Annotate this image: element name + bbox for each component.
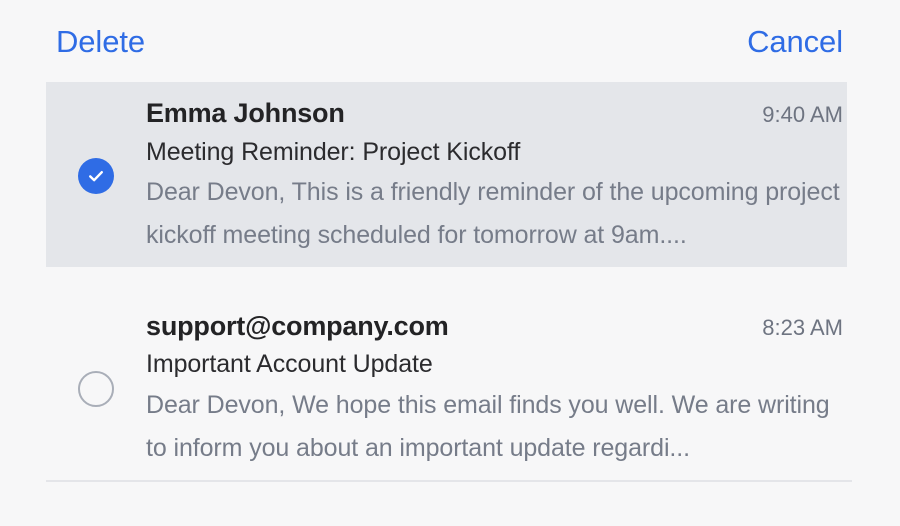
mail-list: Emma Johnson 9:40 AM Meeting Reminder: P… bbox=[0, 82, 900, 482]
mail-sender: support@company.com bbox=[146, 309, 449, 344]
mail-preview: Dear Devon, This is a friendly reminder … bbox=[146, 171, 843, 257]
checkbox-unchecked[interactable] bbox=[78, 371, 114, 407]
list-gap bbox=[0, 267, 900, 295]
checkbox-checked[interactable] bbox=[78, 158, 114, 194]
mail-content: support@company.com 8:23 AM Important Ac… bbox=[146, 309, 847, 470]
mail-preview: Dear Devon, We hope this email finds you… bbox=[146, 384, 843, 470]
mail-header-row: Emma Johnson 9:40 AM bbox=[146, 96, 843, 131]
mail-subject: Meeting Reminder: Project Kickoff bbox=[146, 134, 843, 170]
mail-header-row: support@company.com 8:23 AM bbox=[146, 309, 843, 344]
mail-subject: Important Account Update bbox=[146, 346, 843, 382]
mail-list-item[interactable]: Emma Johnson 9:40 AM Meeting Reminder: P… bbox=[46, 82, 847, 267]
empty-circle-icon bbox=[86, 379, 106, 399]
mail-timestamp: 9:40 AM bbox=[762, 101, 843, 130]
cancel-button[interactable]: Cancel bbox=[747, 26, 843, 57]
mail-timestamp: 8:23 AM bbox=[762, 314, 843, 343]
delete-button[interactable]: Delete bbox=[56, 26, 145, 57]
mail-list-item[interactable]: support@company.com 8:23 AM Important Ac… bbox=[46, 295, 847, 480]
selection-checkbox-cell bbox=[46, 371, 146, 407]
mail-sender: Emma Johnson bbox=[146, 96, 345, 131]
selection-checkbox-cell bbox=[46, 158, 146, 194]
action-bar: Delete Cancel bbox=[0, 0, 900, 82]
mail-content: Emma Johnson 9:40 AM Meeting Reminder: P… bbox=[146, 96, 847, 257]
check-icon bbox=[86, 166, 106, 186]
list-divider bbox=[46, 480, 852, 482]
